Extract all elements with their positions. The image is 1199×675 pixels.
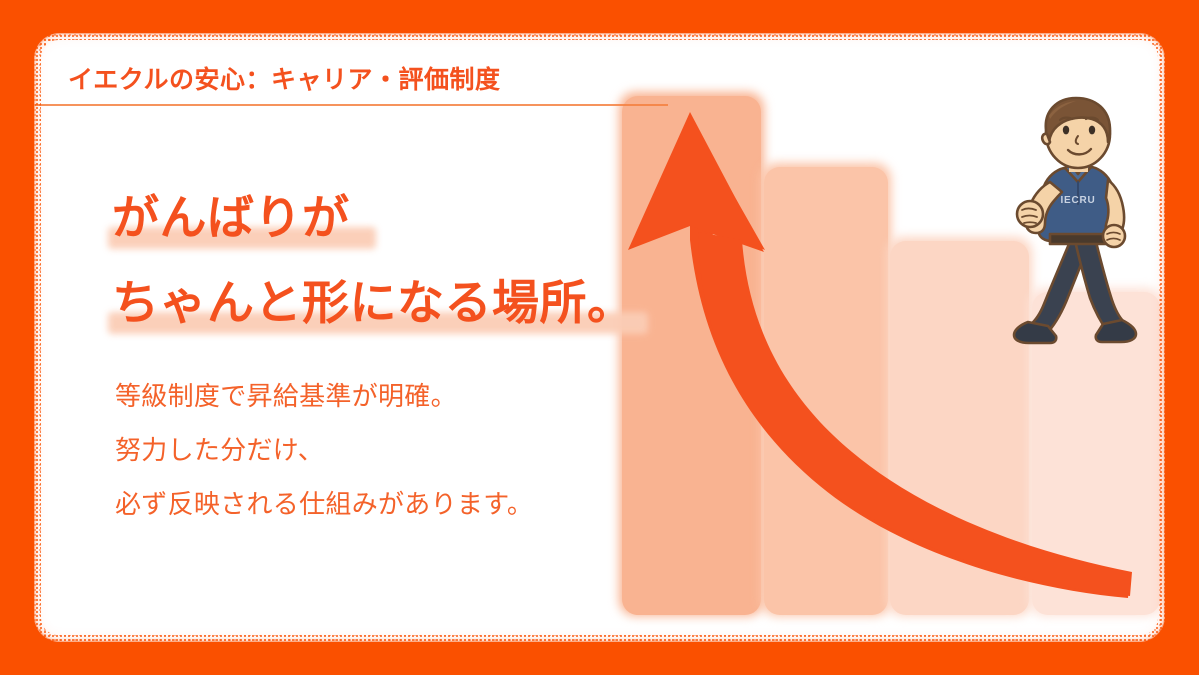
headline-line-1: がんばりが	[112, 183, 350, 253]
slide-canvas: イエクルの安心：キャリア・評価制度 がんばりが ちゃんと形になる場所。 等級制度…	[0, 0, 1199, 675]
content-card: イエクルの安心：キャリア・評価制度 がんばりが ちゃんと形になる場所。 等級制度…	[34, 33, 1165, 642]
headline-line-2-row: ちゃんと形になる場所。	[112, 268, 635, 338]
page-title: イエクルの安心：キャリア・評価制度	[68, 60, 501, 96]
header-divider	[35, 104, 668, 106]
headline-line-2: ちゃんと形になる場所。	[112, 268, 635, 338]
body-line-3: 必ず反映される仕組みがあります。	[115, 484, 533, 521]
body-line-1: 等級制度で昇給基準が明確。	[115, 376, 457, 413]
shirt-logo-text: IECRU	[1060, 195, 1095, 206]
bar-2	[764, 167, 888, 615]
walking-staff-character-illustration: IECRU	[1002, 86, 1162, 346]
headline-line-1-row: がんばりが	[112, 183, 350, 253]
body-line-2: 努力した分だけ、	[115, 430, 324, 467]
bar-1	[622, 96, 761, 615]
